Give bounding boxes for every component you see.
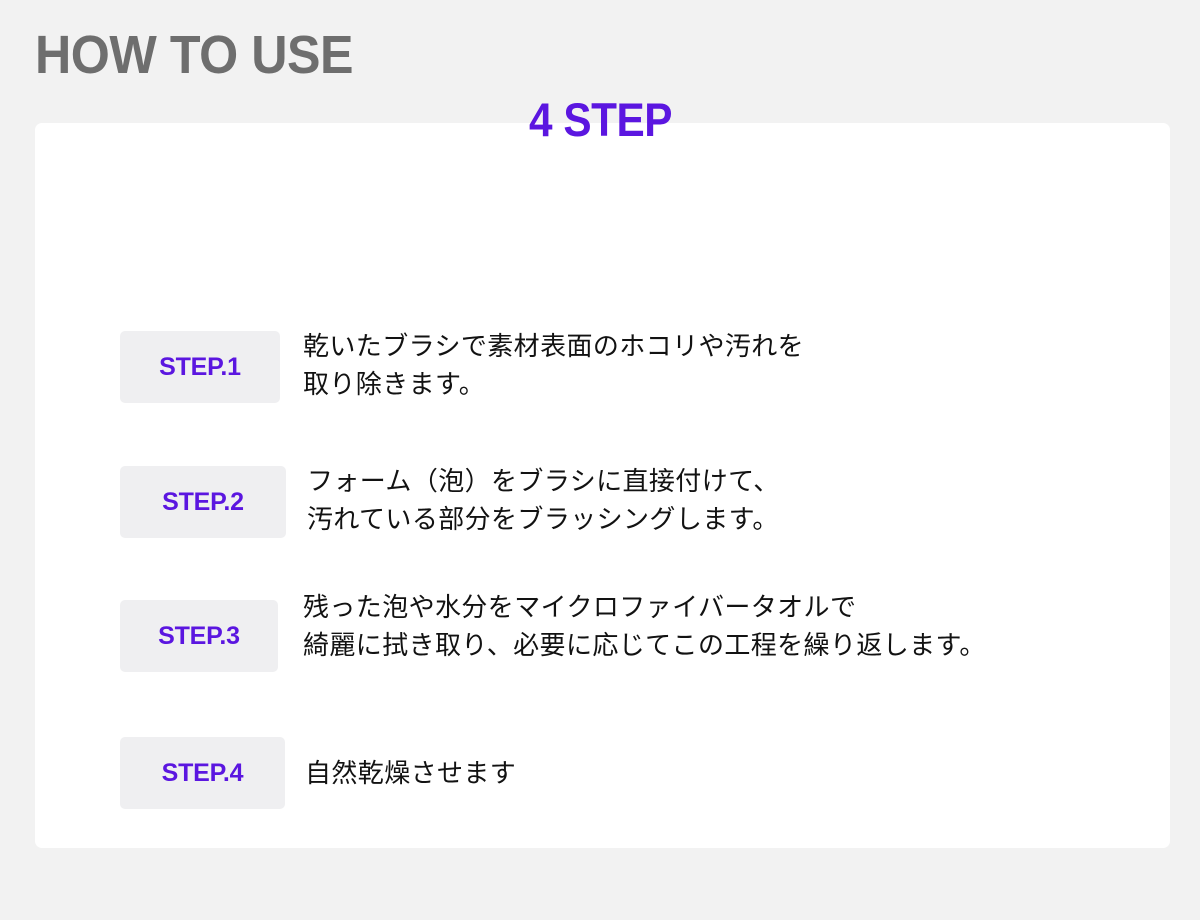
step-badge-2: STEP.2	[120, 466, 286, 538]
step-item-4: STEP.4 自然乾燥させます	[120, 737, 1180, 809]
step-description-3: 残った泡や水分をマイクロファイバータオルで 綺麗に拭き取り、必要に応じてこの工程…	[303, 588, 986, 664]
step-item-2: STEP.2 フォーム（泡）をブラシに直接付けて、 汚れている部分をブラッシング…	[120, 466, 1180, 538]
step-item-1: STEP.1 乾いたブラシで素材表面のホコリや汚れを 取り除きます。	[120, 331, 1180, 403]
step-item-3: STEP.3 残った泡や水分をマイクロファイバータオルで 綺麗に拭き取り、必要に…	[120, 600, 1180, 672]
page-title: HOW TO USE	[35, 28, 353, 82]
steps-heading: 4 STEP	[0, 96, 1200, 143]
step-description-1: 乾いたブラシで素材表面のホコリや汚れを 取り除きます。	[303, 327, 804, 403]
steps-heading-label: 4 STEP	[528, 96, 671, 143]
how-to-use-card: STEP.1 乾いたブラシで素材表面のホコリや汚れを 取り除きます。 STEP.…	[35, 123, 1170, 848]
step-description-2: フォーム（泡）をブラシに直接付けて、 汚れている部分をブラッシングします。	[307, 462, 780, 538]
step-badge-3: STEP.3	[120, 600, 278, 672]
steps-list: STEP.1 乾いたブラシで素材表面のホコリや汚れを 取り除きます。 STEP.…	[120, 331, 1180, 809]
step-badge-1: STEP.1	[120, 331, 280, 403]
step-description-4: 自然乾燥させます	[305, 754, 516, 792]
step-badge-4: STEP.4	[120, 737, 285, 809]
